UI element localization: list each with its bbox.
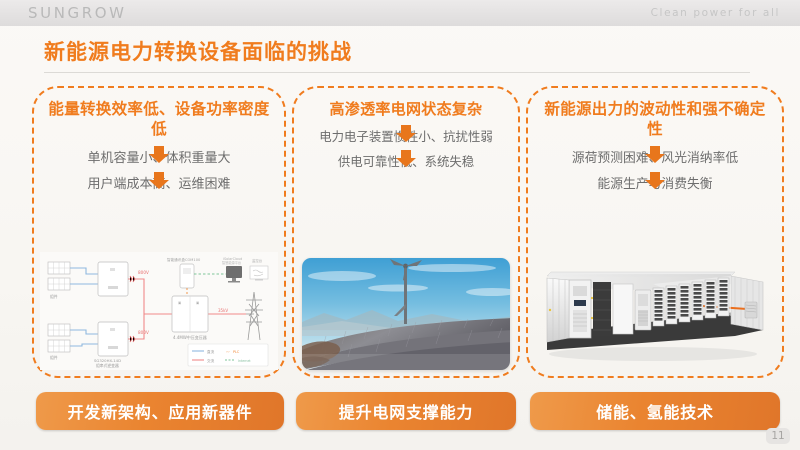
panel-2-heading: 高渗透率电网状态复杂 xyxy=(325,98,486,120)
challenge-panels: 能量转换效率低、设备功率密度低 单机容量小、体积重量大 用户端成本高、运维困难 xyxy=(0,86,800,378)
pv-plant-single-line-diagram: 800V 800V ▣ ▣ 4.4MW中压变压器 智能通讯盒COM100 xyxy=(40,252,278,370)
solution-banner-2[interactable]: 提升电网支撑能力 xyxy=(296,392,516,430)
svg-text:35kV: 35kV xyxy=(218,308,228,313)
challenge-panel-3: 新能源出力的波动性和强不确定性 源荷预测困难、风光消纳率低 能源生产与消费失衡 xyxy=(526,86,784,378)
svg-text:智能通讯盒COM100: 智能通讯盒COM100 xyxy=(167,257,201,262)
slide-root: SUNGROW Clean power for all 新能源电力转换设备面临的… xyxy=(0,0,800,450)
svg-text:PLC: PLC xyxy=(233,350,240,354)
svg-text:组件: 组件 xyxy=(50,294,58,299)
svg-text:800V: 800V xyxy=(138,330,149,335)
top-header-bar: SUNGROW Clean power for all xyxy=(0,0,800,26)
svg-text:智慧能源平台: 智慧能源平台 xyxy=(222,260,241,265)
svg-text:4.4MW中压变压器: 4.4MW中压变压器 xyxy=(173,334,207,340)
solar-farm-wind-turbine-photo xyxy=(302,258,510,370)
svg-text:▣: ▣ xyxy=(178,301,181,305)
svg-text:交流: 交流 xyxy=(207,358,215,363)
panel-3-media xyxy=(536,254,774,370)
panel-1-media: 800V 800V ▣ ▣ 4.4MW中压变压器 智能通讯盒COM100 xyxy=(42,252,276,370)
brand-tagline: Clean power for all xyxy=(651,7,780,19)
sungrow-logo: SUNGROW xyxy=(28,4,127,22)
solution-banner-3[interactable]: 储能、氢能技术 xyxy=(530,392,780,430)
svg-text:Internet: Internet xyxy=(238,359,251,363)
svg-text:监控台: 监控台 xyxy=(252,258,263,263)
svg-text:800V: 800V xyxy=(138,270,149,275)
svg-text:直流: 直流 xyxy=(207,349,215,354)
svg-text:▣: ▣ xyxy=(196,301,199,305)
svg-text:〰: 〰 xyxy=(226,350,230,354)
svg-text:组件: 组件 xyxy=(50,355,58,360)
challenge-panel-2: 高渗透率电网状态复杂 电力电子装置惯性小、抗扰性弱 供电可靠性低、系统失稳 xyxy=(292,86,520,378)
panel-1-heading: 能量转换效率低、设备功率密度低 xyxy=(42,98,276,141)
svg-text:组串式逆变器: 组串式逆变器 xyxy=(96,363,119,368)
battery-energy-storage-container-render xyxy=(535,254,775,370)
panel-2-media xyxy=(302,258,510,370)
panel-3-heading: 新能源出力的波动性和强不确定性 xyxy=(536,98,774,141)
solution-banner-1[interactable]: 开发新架构、应用新器件 xyxy=(36,392,284,430)
page-number-badge: 11 xyxy=(766,428,790,444)
page-title: 新能源电力转换设备面临的挑战 xyxy=(44,36,352,66)
title-divider xyxy=(44,72,750,73)
challenge-panel-1: 能量转换效率低、设备功率密度低 单机容量小、体积重量大 用户端成本高、运维困难 xyxy=(32,86,286,378)
